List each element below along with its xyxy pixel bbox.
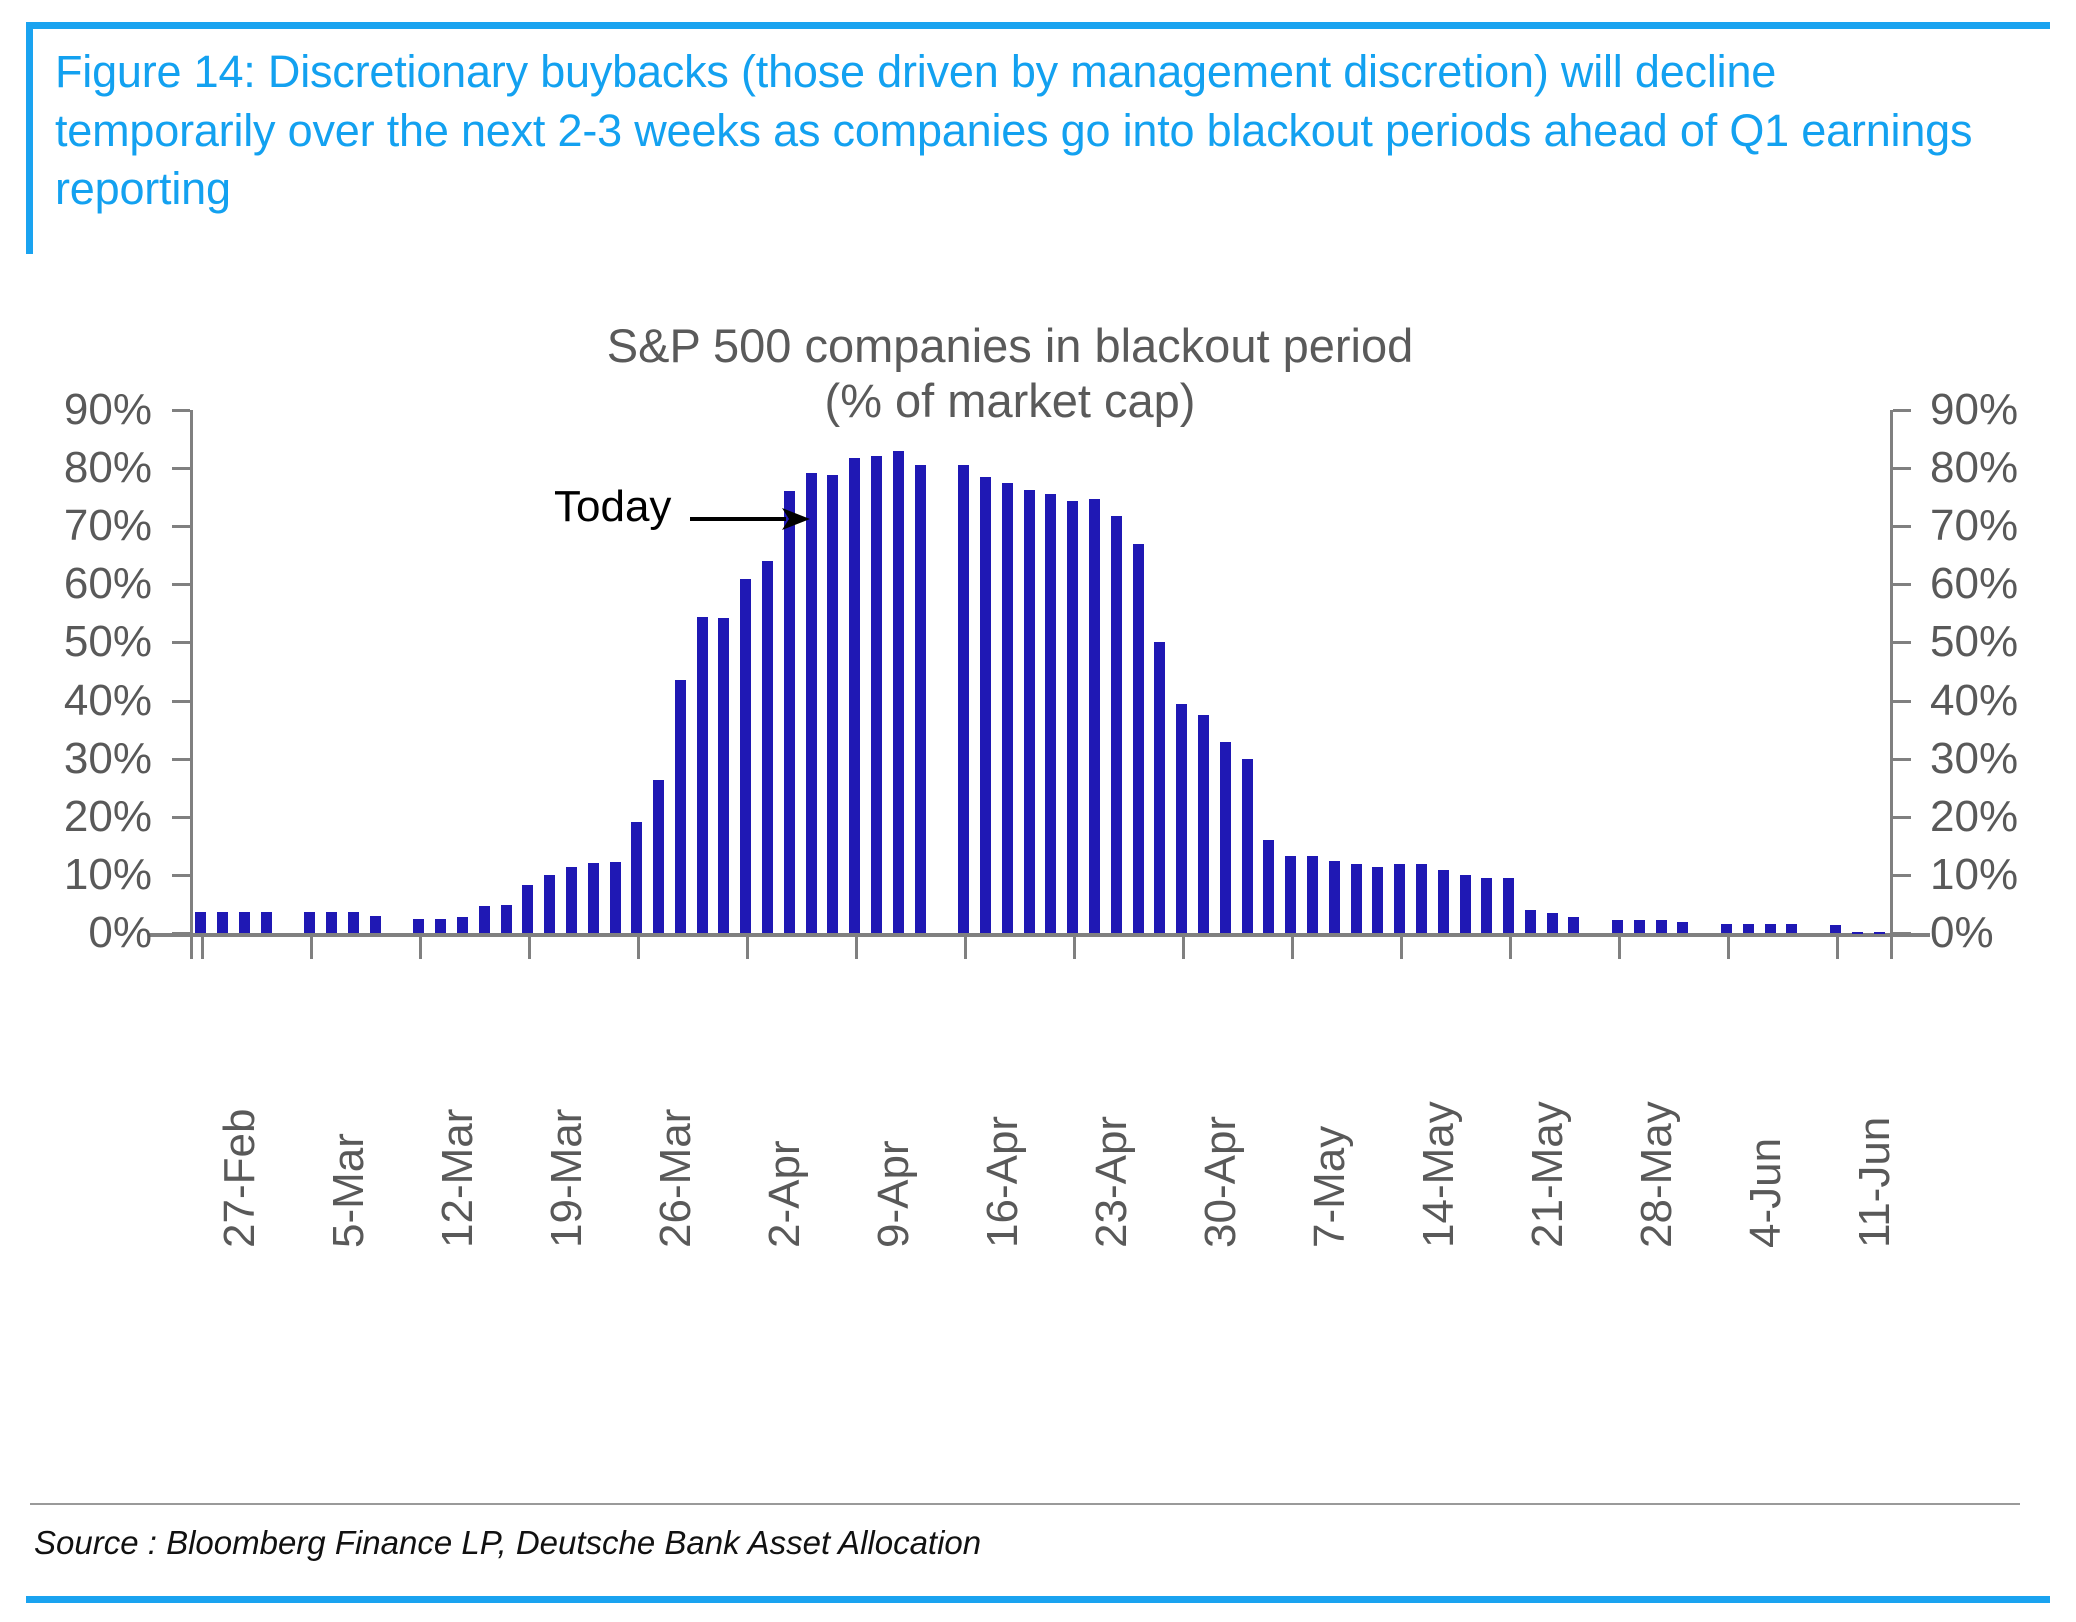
y-axis-label-right: 80%	[1930, 446, 2076, 490]
x-axis-label: 14-May	[1417, 1101, 1461, 1248]
x-axis-tick	[310, 937, 313, 959]
y-axis-label-right: 50%	[1930, 620, 2076, 664]
bar	[1525, 910, 1536, 933]
x-axis-label: 4-Jun	[1744, 1138, 1788, 1248]
y-axis-tick-left	[172, 874, 190, 877]
bar	[588, 863, 599, 933]
bar	[195, 912, 206, 933]
x-axis-label: 23-Apr	[1090, 1116, 1134, 1248]
bar	[413, 919, 424, 933]
y-axis-label-left: 30%	[0, 737, 152, 781]
y-axis-tick-left	[172, 641, 190, 644]
bar	[871, 456, 882, 933]
today-arrow-icon	[690, 504, 810, 534]
bar	[1285, 856, 1296, 933]
y-axis-label-right: 40%	[1930, 679, 2076, 723]
source-divider	[30, 1503, 2020, 1505]
bar	[1242, 759, 1253, 933]
bar	[501, 905, 512, 933]
bar	[1198, 715, 1209, 933]
x-axis-label: 9-Apr	[872, 1140, 916, 1248]
bar	[304, 912, 315, 933]
bar	[1481, 878, 1492, 933]
bar	[893, 451, 904, 933]
bar	[435, 919, 446, 933]
bar	[631, 822, 642, 933]
x-axis-tick	[855, 937, 858, 959]
bar	[1634, 920, 1645, 933]
y-axis-label-right: 90%	[1930, 388, 2076, 432]
bar	[915, 465, 926, 933]
bar	[610, 862, 621, 933]
bar	[1612, 920, 1623, 933]
y-axis-label-left: 60%	[0, 562, 152, 606]
bar	[522, 885, 533, 933]
bar	[479, 906, 490, 933]
bar	[217, 912, 228, 933]
x-axis-label: 7-May	[1308, 1126, 1352, 1248]
y-axis-label-right: 20%	[1930, 795, 2076, 839]
bar	[718, 618, 729, 933]
bar	[370, 916, 381, 933]
bar	[1067, 501, 1078, 933]
x-axis-tick	[1509, 937, 1512, 959]
x-axis-tick	[1400, 937, 1403, 959]
x-axis-tick	[1182, 937, 1185, 959]
x-axis-label: 5-Mar	[327, 1133, 371, 1248]
x-axis-label: 11-Jun	[1853, 1117, 1897, 1248]
bar	[784, 491, 795, 933]
y-axis-label-left: 20%	[0, 795, 152, 839]
bar	[740, 579, 751, 933]
bar	[1743, 924, 1754, 933]
bar	[697, 617, 708, 933]
bar	[1852, 932, 1863, 934]
y-axis-tick-right	[1893, 932, 1911, 935]
bar	[1002, 483, 1013, 933]
bar	[1656, 920, 1667, 933]
x-axis-tick	[637, 937, 640, 959]
x-axis-tick	[746, 937, 749, 959]
y-axis-tick-left	[172, 525, 190, 528]
bar	[239, 912, 250, 933]
bar	[1307, 856, 1318, 933]
y-axis-tick-left	[172, 467, 190, 470]
footer-accent-rule	[26, 1596, 2050, 1603]
bar	[1830, 925, 1841, 933]
bar	[980, 477, 991, 933]
y-axis-tick-right	[1893, 467, 1911, 470]
bar	[1394, 864, 1405, 933]
x-axis-tick	[1727, 937, 1730, 959]
x-axis-label: 28-May	[1635, 1101, 1679, 1248]
bar	[1460, 875, 1471, 933]
bar	[1024, 490, 1035, 933]
y-axis-label-right: 0%	[1930, 911, 2076, 955]
y-axis-label-left: 70%	[0, 504, 152, 548]
bar	[675, 680, 686, 933]
y-axis-label-right: 70%	[1930, 504, 2076, 548]
x-axis-tick	[1073, 937, 1076, 959]
bar	[1220, 742, 1231, 933]
x-axis-label: 2-Apr	[763, 1140, 807, 1248]
bar	[1438, 870, 1449, 933]
bar	[457, 917, 468, 933]
y-axis-tick-right	[1893, 874, 1911, 877]
y-axis-label-left: 40%	[0, 679, 152, 723]
bar	[958, 465, 969, 933]
y-axis-tick-left	[172, 932, 190, 935]
y-axis-label-right: 60%	[1930, 562, 2076, 606]
x-axis-label: 21-May	[1526, 1101, 1570, 1248]
y-axis-label-left: 90%	[0, 388, 152, 432]
bar	[1045, 494, 1056, 933]
x-axis-tick	[1618, 937, 1621, 959]
bar	[544, 875, 555, 933]
y-axis-label-left: 80%	[0, 446, 152, 490]
bar	[1263, 840, 1274, 933]
figure-root: Figure 14: Discretionary buybacks (those…	[0, 0, 2076, 1622]
bar	[1547, 913, 1558, 933]
bar	[348, 912, 359, 933]
bar	[1351, 864, 1362, 933]
bar	[1677, 922, 1688, 933]
source-note: Source : Bloomberg Finance LP, Deutsche …	[34, 1524, 981, 1562]
x-axis-tick	[419, 937, 422, 959]
bar	[566, 867, 577, 933]
y-axis-tick-right	[1893, 409, 1911, 412]
y-axis-tick-left	[172, 409, 190, 412]
x-axis-label: 19-Mar	[545, 1109, 589, 1248]
x-axis-tick	[528, 937, 531, 959]
bar	[1416, 864, 1427, 933]
bar	[1154, 642, 1165, 933]
y-axis-tick-right	[1893, 816, 1911, 819]
x-axis-tick	[1291, 937, 1294, 959]
bar	[326, 912, 337, 933]
bar	[1133, 544, 1144, 933]
bar	[1503, 878, 1514, 933]
bar	[1568, 917, 1579, 933]
bar	[1089, 499, 1100, 933]
x-axis-tick	[201, 937, 204, 959]
x-axis-label: 27-Feb	[218, 1109, 262, 1248]
x-axis-label: 30-Apr	[1199, 1116, 1243, 1248]
x-axis-tick	[964, 937, 967, 959]
bar	[806, 473, 817, 933]
bar	[1786, 924, 1797, 933]
bar	[849, 458, 860, 933]
y-axis-tick-right	[1893, 583, 1911, 586]
bar	[1372, 867, 1383, 933]
bar	[261, 912, 272, 933]
chart-plot-area: 90%90%80%80%70%70%60%60%50%50%40%40%30%3…	[0, 0, 2076, 1622]
y-axis-tick-right	[1893, 758, 1911, 761]
bar	[653, 780, 664, 933]
x-axis-baseline	[150, 933, 1930, 937]
x-axis-label: 26-Mar	[654, 1109, 698, 1248]
bar	[762, 561, 773, 933]
y-axis-tick-right	[1893, 525, 1911, 528]
bar	[1874, 932, 1885, 934]
bar	[1329, 861, 1340, 933]
y-axis-label-left: 50%	[0, 620, 152, 664]
x-axis-label: 16-Apr	[981, 1116, 1025, 1248]
y-axis-label-left: 10%	[0, 853, 152, 897]
y-axis-tick-left	[172, 700, 190, 703]
bar	[827, 475, 838, 933]
y-axis-tick-left	[172, 816, 190, 819]
bar	[1765, 924, 1776, 933]
y-axis-tick-right	[1893, 641, 1911, 644]
y-axis-label-left: 0%	[0, 911, 152, 955]
y-axis-label-right: 10%	[1930, 853, 2076, 897]
bar	[1721, 924, 1732, 933]
y-axis-label-right: 30%	[1930, 737, 2076, 781]
y-axis-tick-right	[1893, 700, 1911, 703]
bar	[1111, 516, 1122, 933]
x-axis-tick	[1836, 937, 1839, 959]
x-axis-label: 12-Mar	[436, 1109, 480, 1248]
y-axis-tick-left	[172, 758, 190, 761]
y-axis-left-line	[190, 410, 193, 959]
y-axis-tick-left	[172, 583, 190, 586]
today-annotation-label: Today	[554, 482, 671, 532]
bar	[1176, 704, 1187, 933]
